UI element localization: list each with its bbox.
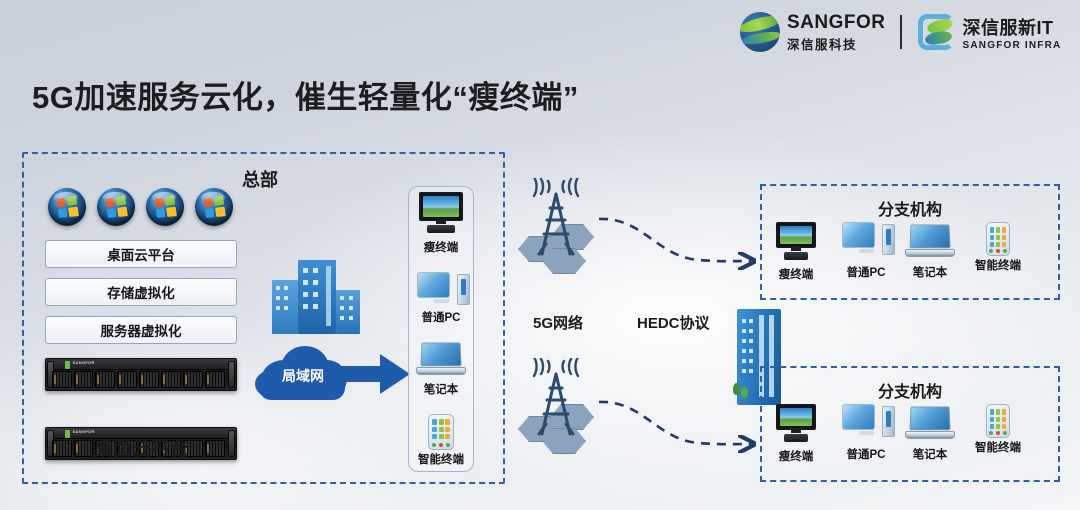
thin-client-icon <box>776 222 816 260</box>
branch-device-thin-client[interactable]: 瘦终端 <box>764 222 828 282</box>
thin-client-icon <box>776 404 816 442</box>
branch-device-laptop[interactable]: 笔记本 <box>898 224 962 280</box>
terminal-thin-client[interactable]: 瘦终端 <box>408 192 474 255</box>
office-building-icon <box>272 256 362 334</box>
stack-box-server-virtualization[interactable]: 服务器虚拟化 <box>45 316 237 344</box>
dashed-arrow-icon <box>595 195 770 285</box>
sangfor-infra-logo: 深信服新IT SANGFOR INFRA <box>916 12 1062 52</box>
branch-device-label: 普通PC <box>834 446 898 462</box>
terminal-label: 笔记本 <box>408 381 474 397</box>
laptop-icon <box>904 224 956 258</box>
windows-logo-icon <box>195 188 233 226</box>
branch-device-label: 普通PC <box>834 264 898 280</box>
brand-logo-bar: SANGFOR 深信服科技 深信服新IT SANGFOR INFRA <box>740 8 1072 56</box>
smart-terminal-icon <box>428 414 454 450</box>
smart-terminal-icon <box>986 404 1010 438</box>
protocol-label: HEDC协议 <box>637 312 710 333</box>
laptop-icon <box>904 406 956 440</box>
desktop-pc-icon <box>842 404 890 440</box>
branch-device-label: 智能终端 <box>964 257 1032 273</box>
rack-server-icon: SANGFOR <box>45 358 237 391</box>
branch-device-label: 笔记本 <box>898 446 962 462</box>
branch-device-desktop-pc[interactable]: 普通PC <box>834 222 898 280</box>
terminal-label: 智能终端 <box>408 451 474 467</box>
lan-label: 局域网 <box>255 366 351 386</box>
branch-device-label: 笔记本 <box>898 264 962 280</box>
slide-canvas: SANGFOR 深信服科技 深信服新IT SANGFOR INFRA 5G加速服… <box>0 0 1080 510</box>
globe-icon <box>740 12 780 52</box>
page-title: 5G加速服务云化，催生轻量化“瘦终端” <box>32 72 579 117</box>
branch-label: 分支机构 <box>760 196 1060 220</box>
thin-client-icon <box>419 192 463 233</box>
terminal-label: 普通PC <box>408 309 474 325</box>
branch-device-laptop[interactable]: 笔记本 <box>898 406 962 462</box>
windows-logo-row <box>48 188 233 226</box>
c-swirl-icon <box>916 12 956 52</box>
branch-device-label: 瘦终端 <box>764 266 828 282</box>
windows-logo-icon <box>97 188 135 226</box>
sangfor-logo: SANGFOR 深信服科技 <box>740 12 886 53</box>
infra-name-en: SANGFOR INFRA <box>963 40 1062 51</box>
branch-label: 分支机构 <box>760 378 1060 402</box>
terminal-laptop[interactable]: 笔记本 <box>408 342 474 397</box>
branch-device-thin-client[interactable]: 瘦终端 <box>764 404 828 464</box>
windows-logo-icon <box>146 188 184 226</box>
terminal-desktop-pc[interactable]: 普通PC <box>408 272 474 325</box>
sangfor-name-cn: 深信服科技 <box>787 34 886 53</box>
smart-terminal-icon <box>986 222 1010 256</box>
branch-device-label: 智能终端 <box>964 439 1032 455</box>
laptop-icon <box>415 342 467 375</box>
branch-device-label: 瘦终端 <box>764 448 828 464</box>
branch-device-desktop-pc[interactable]: 普通PC <box>834 404 898 462</box>
stack-box-storage-virtualization[interactable]: 存储虚拟化 <box>45 278 237 306</box>
network-tower-label: 5G网络 <box>533 312 583 333</box>
server-caption: 桌面云平台 <box>45 434 237 461</box>
windows-logo-icon <box>48 188 86 226</box>
desktop-pc-icon <box>417 272 465 303</box>
sangfor-name-en: SANGFOR <box>787 12 886 34</box>
terminal-label: 瘦终端 <box>408 239 474 255</box>
terminal-smart-device[interactable]: 智能终端 <box>408 412 474 467</box>
infra-name-cn: 深信服新IT <box>963 14 1062 40</box>
logo-divider <box>900 15 902 49</box>
headquarters-label: 总部 <box>242 166 278 192</box>
branch-device-smart-terminal[interactable]: 智能终端 <box>964 402 1032 455</box>
desktop-pc-icon <box>842 222 890 258</box>
branch-device-smart-terminal[interactable]: 智能终端 <box>964 220 1032 273</box>
stack-box-desktop-cloud[interactable]: 桌面云平台 <box>45 240 237 268</box>
